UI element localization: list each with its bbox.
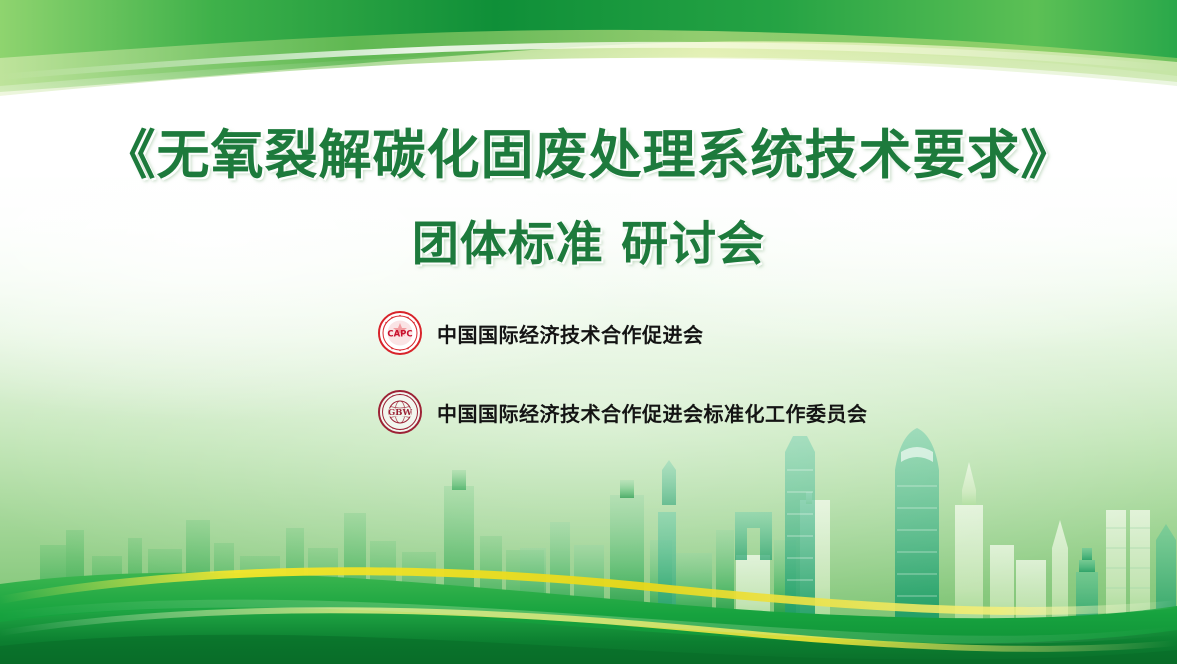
organization-row-gbw: GBW 中国国际经济技术合作促进会标准化工作委员会 <box>378 390 868 434</box>
capc-seal-icon: CAPC <box>378 311 422 355</box>
capc-seal-text: CAPC <box>387 330 412 340</box>
slide-content: 《无氧裂解碳化固废处理系统技术要求》 团体标准 研讨会 CAPC <box>0 0 1177 664</box>
gbw-seal-text: GBW <box>388 408 412 418</box>
page-title: 《无氧裂解碳化固废处理系统技术要求》 <box>0 113 1177 189</box>
presentation-title-slide: 《无氧裂解碳化固废处理系统技术要求》 团体标准 研讨会 CAPC <box>0 0 1177 664</box>
page-subtitle: 团体标准 研讨会 <box>0 205 1177 274</box>
organization-row-capc: CAPC 中国国际经济技术合作促进会 <box>378 311 704 355</box>
gbw-seal-icon: GBW <box>378 390 422 434</box>
organization-name-capc: 中国国际经济技术合作促进会 <box>437 319 704 348</box>
organization-name-gbw: 中国国际经济技术合作促进会标准化工作委员会 <box>437 398 868 427</box>
